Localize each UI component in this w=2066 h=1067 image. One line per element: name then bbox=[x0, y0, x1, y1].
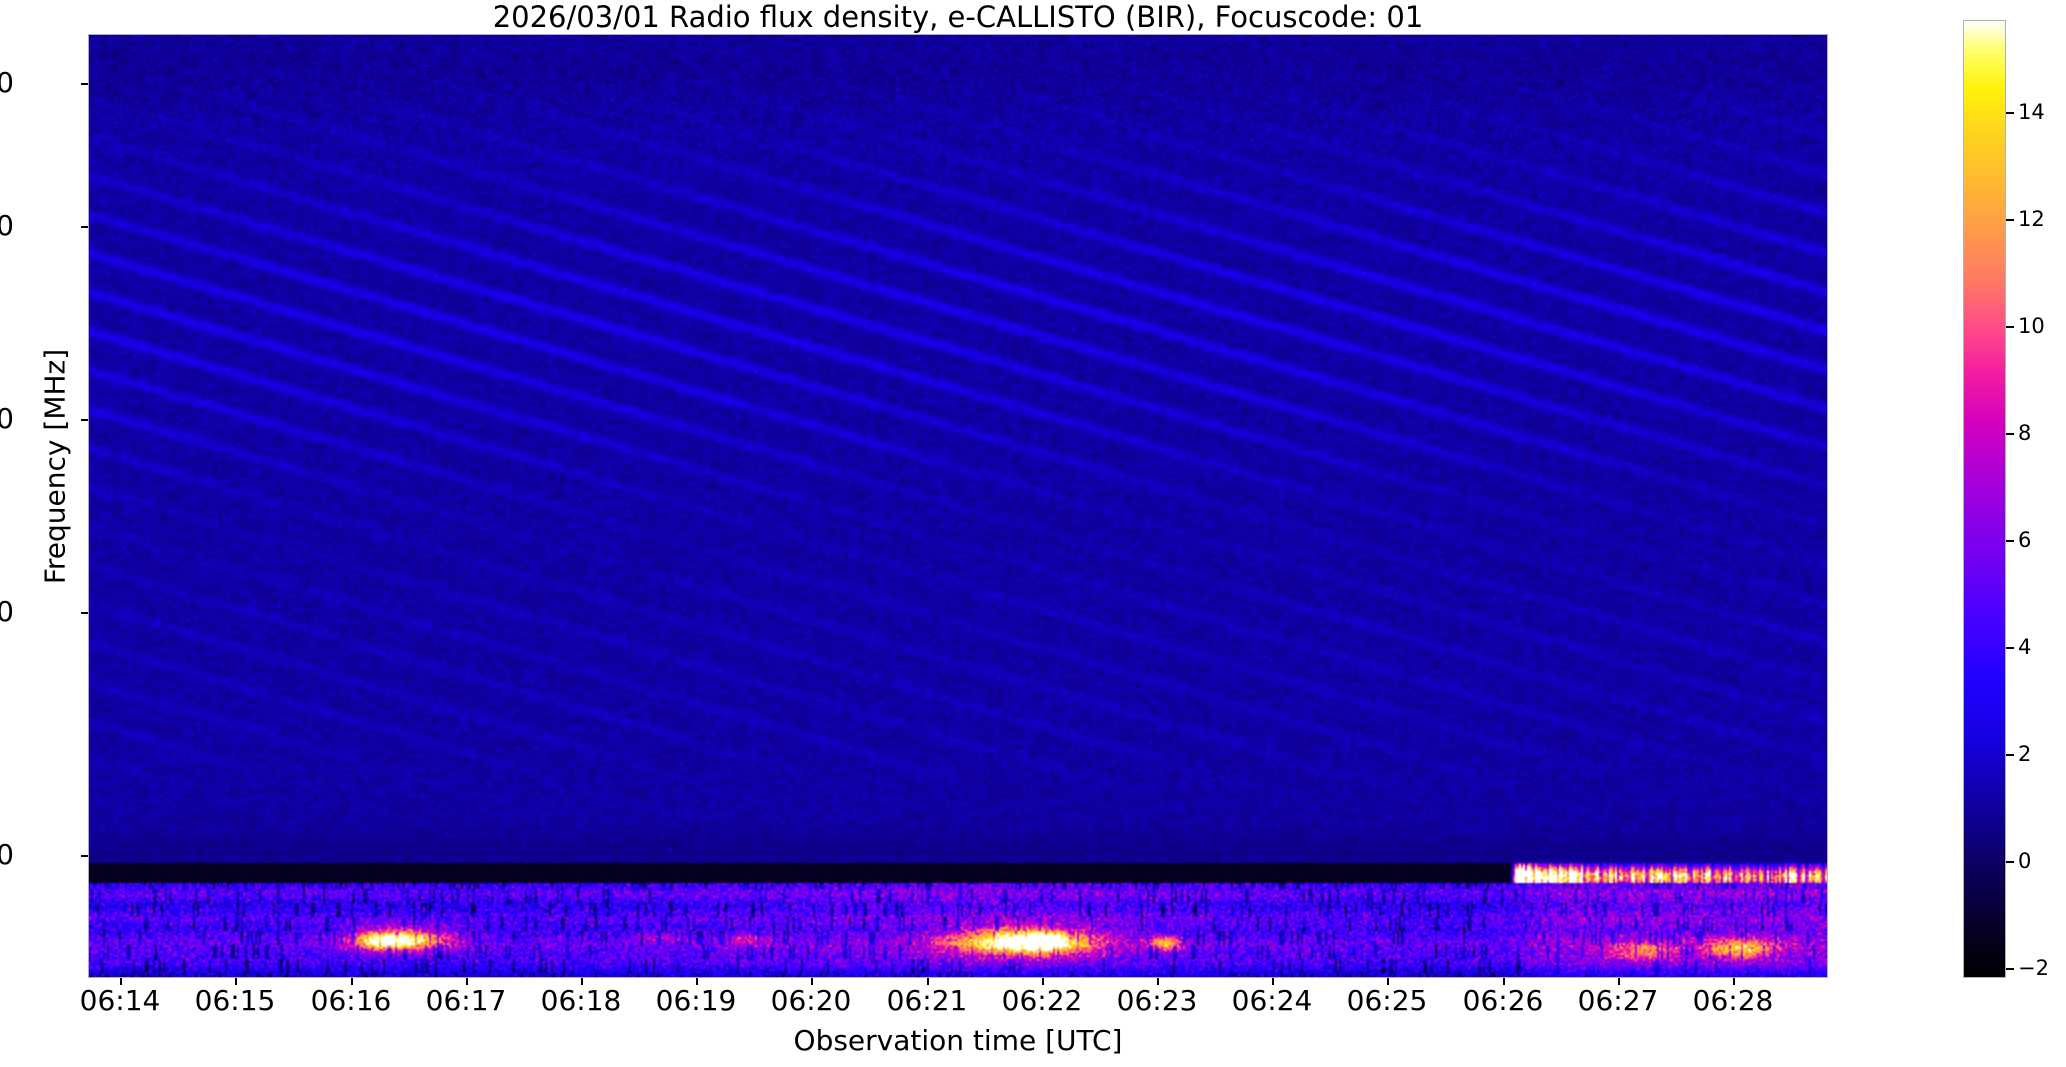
page-title: 2026/03/01 Radio flux density, e-CALLIST… bbox=[88, 2, 1828, 32]
y-tick-mark bbox=[81, 226, 88, 228]
colorbar-tick-mark bbox=[2006, 433, 2014, 435]
colorbar-tick-label: 8 bbox=[2018, 423, 2031, 444]
spectrogram-image bbox=[89, 35, 1828, 978]
colorbar-tick-label: 14 bbox=[2018, 102, 2045, 123]
colorbar-tick-label: −2 bbox=[2018, 958, 2049, 979]
colorbar-tick-label: 6 bbox=[2018, 530, 2031, 551]
y-tick-mark bbox=[81, 419, 88, 421]
colorbar-tick-mark bbox=[2006, 647, 2014, 649]
colorbar-gradient bbox=[1963, 20, 2006, 978]
colorbar-tick-mark bbox=[2006, 861, 2014, 863]
colorbar-tick-label: 0 bbox=[2018, 851, 2031, 872]
y-tick-mark bbox=[81, 855, 88, 857]
x-tick-label: 06:28 bbox=[1653, 986, 1813, 1016]
colorbar-tick-mark bbox=[2006, 219, 2014, 221]
y-axis-label: Frequency [MHz] bbox=[39, 232, 72, 702]
y-tick-label: 100 bbox=[0, 69, 14, 97]
x-axis-label: Observation time [UTC] bbox=[88, 1024, 1828, 1057]
y-tick-mark bbox=[81, 612, 88, 614]
colorbar-tick-mark bbox=[2006, 540, 2014, 542]
colorbar-tick-label: 4 bbox=[2018, 637, 2031, 658]
colorbar-tick-label: 2 bbox=[2018, 744, 2031, 765]
colorbar-tick-mark bbox=[2006, 326, 2014, 328]
colorbar-tick-label: 12 bbox=[2018, 209, 2045, 230]
y-tick-label: 60 bbox=[0, 405, 14, 433]
spectrogram-plot-area[interactable] bbox=[88, 34, 1828, 978]
colorbar-tick-mark bbox=[2006, 754, 2014, 756]
spectrogram-figure: 2026/03/01 Radio flux density, e-CALLIST… bbox=[0, 0, 2066, 1067]
colorbar-tick-mark bbox=[2006, 968, 2014, 970]
y-tick-label: 20 bbox=[0, 841, 14, 869]
y-tick-label: 80 bbox=[0, 212, 14, 240]
colorbar-tick-label: 10 bbox=[2018, 316, 2045, 337]
y-tick-mark bbox=[81, 83, 88, 85]
colorbar-tick-mark bbox=[2006, 112, 2014, 114]
y-tick-label: 40 bbox=[0, 598, 14, 626]
